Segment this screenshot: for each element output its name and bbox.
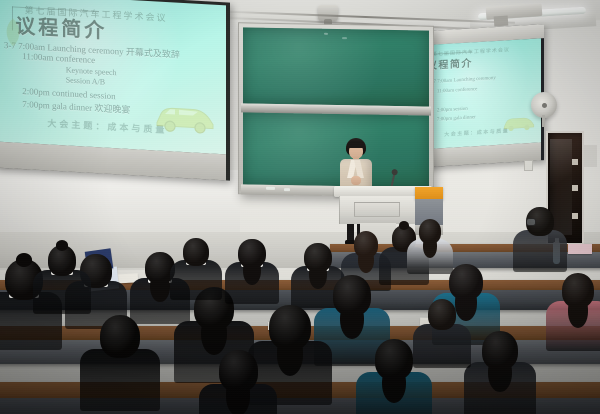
car-icon xyxy=(502,112,536,132)
chalk-piece xyxy=(266,187,275,190)
audience-member-head xyxy=(333,275,371,316)
presenter-fringe xyxy=(347,141,365,148)
wall-socket-icon xyxy=(524,160,533,171)
audience-member xyxy=(413,299,470,374)
projection-screen-left: 第七届国际汽车工程学术会议 议程简介 3-7 7:00am Launching … xyxy=(0,0,230,181)
audience-member-torso xyxy=(80,349,161,411)
audience-member xyxy=(546,273,600,358)
audience-member xyxy=(464,331,537,414)
audience-member-hair-bun xyxy=(56,240,69,250)
audience-member-head xyxy=(304,243,331,272)
audience-member xyxy=(199,350,277,414)
audience-member-head xyxy=(482,331,518,370)
chalk-mark xyxy=(324,33,328,35)
door-hardware xyxy=(572,213,578,219)
lectern-drawer xyxy=(354,202,400,217)
audience-member-head xyxy=(449,264,483,300)
audience-member-head xyxy=(375,339,413,380)
audience-member-head xyxy=(562,273,595,308)
slide-line: 3-7 7:00am Launching ceremony xyxy=(429,76,496,85)
blackboard-panel-upper xyxy=(243,27,429,106)
door-hardware xyxy=(572,185,578,191)
screen-canvas-left: 第七届国际汽车工程学术会议 议程简介 3-7 7:00am Launching … xyxy=(0,0,226,154)
glasses-icon xyxy=(526,218,536,226)
ceiling-projector-icon xyxy=(318,5,338,21)
slide-line: Session A/B xyxy=(66,75,105,86)
audience-member-torso xyxy=(413,324,470,368)
audience-member-head xyxy=(100,315,140,358)
chalk-piece xyxy=(284,188,290,191)
audience-member xyxy=(170,238,222,306)
audience-member-head xyxy=(419,219,442,244)
slide-left: 第七届国际汽车工程学术会议 议程简介 3-7 7:00am Launching … xyxy=(0,0,226,154)
audience-member-head xyxy=(428,299,457,330)
leaf-icon xyxy=(2,17,24,48)
fan-mount-arm xyxy=(542,115,545,127)
audience-member-head xyxy=(354,231,379,258)
audience-member-head xyxy=(269,305,311,350)
audience-member-head xyxy=(238,239,265,268)
door-hardware xyxy=(572,159,578,165)
audience-member xyxy=(225,239,280,310)
audience-member-hair-bun xyxy=(16,253,33,267)
slide-footer: 大会主题：成本与质量 xyxy=(47,116,167,136)
lecture-hall-photo: 第七届国际汽车工程学术会议 议程简介 3-7 7:00am Launching … xyxy=(0,0,600,414)
car-icon xyxy=(153,98,217,136)
audience-member-torso xyxy=(33,270,90,314)
presenter-hands xyxy=(351,176,361,185)
slide-right: 第七届国际汽车工程学术会议 议程简介 3-7 7:00am Launching … xyxy=(417,38,541,149)
screen-mount-bracket xyxy=(494,16,509,27)
slide-line: 11:00am conference xyxy=(437,87,478,94)
slide-line: 7:00pm gala dinner xyxy=(437,115,476,122)
audience-member-head xyxy=(183,238,209,266)
audience-member-head xyxy=(219,350,258,392)
slide-footer: 大会主题：成本与质量 xyxy=(444,127,509,138)
audience-member xyxy=(513,207,568,278)
slide-line: 2:00pm session xyxy=(437,107,468,114)
chalk-mark xyxy=(342,37,347,39)
audience-member xyxy=(80,315,161,414)
audience-member-torso xyxy=(170,260,222,300)
screen-canvas-right: 第七届国际汽车工程学术会议 议程简介 3-7 7:00am Launching … xyxy=(417,38,541,149)
notebook xyxy=(568,244,592,254)
audience-member-torso xyxy=(513,230,568,272)
audience-member xyxy=(33,245,90,320)
